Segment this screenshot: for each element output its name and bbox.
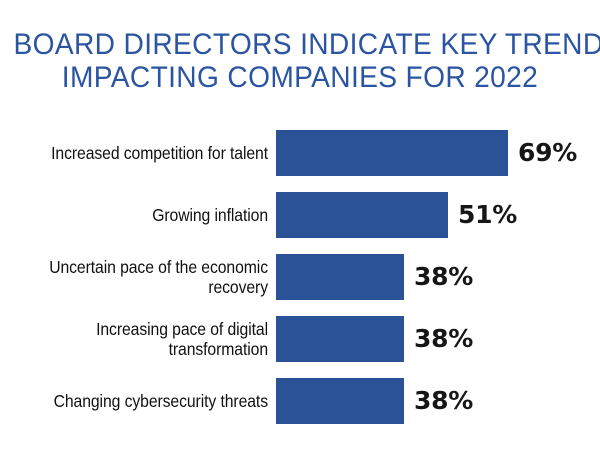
- category-label-line: Uncertain pace of the economic: [49, 257, 268, 277]
- category-label-line: recovery: [208, 277, 268, 297]
- bar-fill[interactable]: [276, 378, 404, 424]
- bar-track: 38%: [276, 378, 600, 424]
- bar-track: 51%: [276, 192, 600, 238]
- category-label: Growing inflation: [41, 192, 268, 238]
- bar-row: Uncertain pace of the economic recovery …: [0, 254, 600, 300]
- bar-row: Increased competition for talent 69%: [0, 130, 600, 176]
- bar-row: Increasing pace of digital transformatio…: [0, 316, 600, 362]
- bar-value-label: 38%: [414, 316, 473, 362]
- bar-track: 69%: [276, 130, 600, 176]
- bar-fill[interactable]: [276, 192, 448, 238]
- category-label-line: Increased competition for talent: [51, 143, 268, 163]
- category-label: Increasing pace of digital transformatio…: [41, 316, 268, 362]
- bar-track: 38%: [276, 254, 600, 300]
- category-label: Uncertain pace of the economic recovery: [41, 254, 268, 300]
- category-label-line: Changing cybersecurity threats: [54, 391, 268, 411]
- category-label-line: Increasing pace of digital: [96, 319, 268, 339]
- category-label: Changing cybersecurity threats: [41, 378, 268, 424]
- category-label-line: transformation: [169, 339, 268, 359]
- bar-value-label: 69%: [518, 130, 577, 176]
- bar-value-label: 51%: [458, 192, 517, 238]
- plot-area: Increased competition for talent 69% Gro…: [0, 122, 600, 422]
- category-label-line: Growing inflation: [152, 205, 268, 225]
- bar-fill[interactable]: [276, 254, 404, 300]
- bar-row: Growing inflation 51%: [0, 192, 600, 238]
- bar-track: 38%: [276, 316, 600, 362]
- bar-row: Changing cybersecurity threats 38%: [0, 378, 600, 424]
- chart-container: BOARD DIRECTORS INDICATE KEY TRENDS IMPA…: [0, 0, 600, 450]
- category-label: Increased competition for talent: [41, 130, 268, 176]
- bar-value-label: 38%: [414, 254, 473, 300]
- chart-title-line-1: BOARD DIRECTORS INDICATE KEY TRENDS: [14, 28, 587, 61]
- bar-value-label: 38%: [414, 378, 473, 424]
- chart-title-line-2: IMPACTING COMPANIES FOR 2022: [14, 61, 587, 94]
- bar-fill[interactable]: [276, 130, 508, 176]
- chart-title: BOARD DIRECTORS INDICATE KEY TRENDS IMPA…: [14, 28, 587, 94]
- bar-fill[interactable]: [276, 316, 404, 362]
